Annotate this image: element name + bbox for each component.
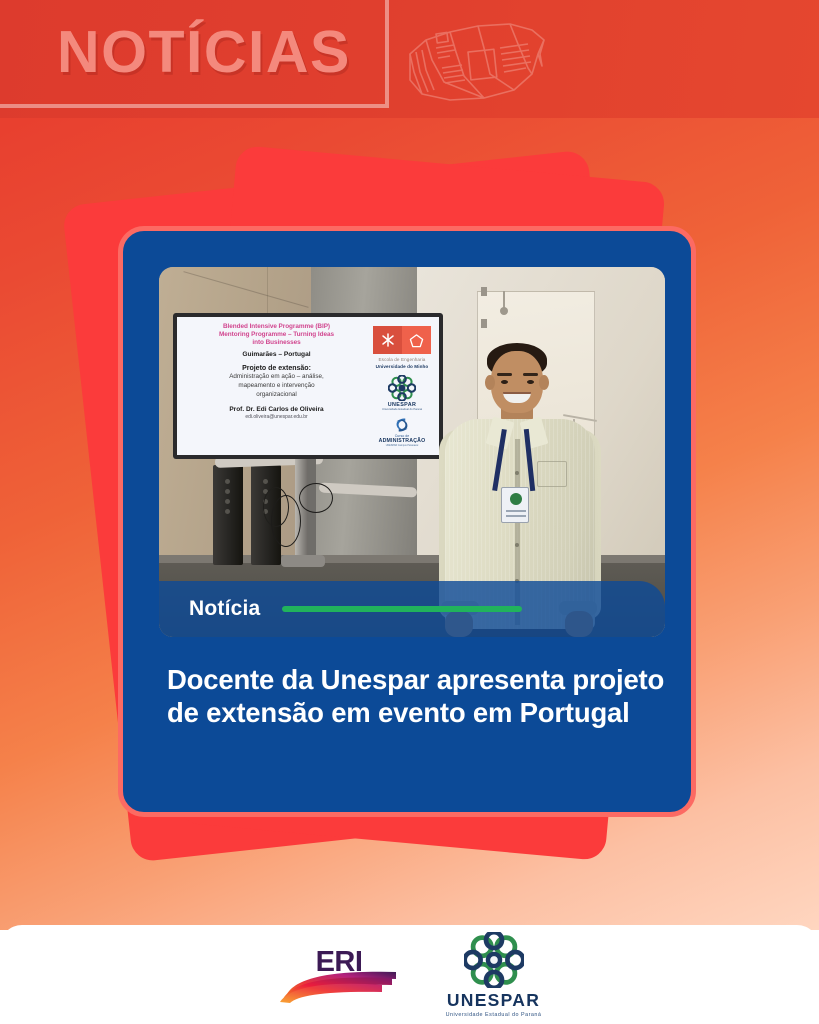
newspaper-icon: [392, 14, 557, 109]
news-card[interactable]: Blended Intensive Programme (BIP) Mentor…: [118, 226, 696, 817]
slide-administracao-logo: Curso de ADMINISTRAÇÃO UNESPAR Campus Pa…: [379, 416, 426, 447]
eri-logo: ERI: [278, 946, 400, 1004]
minho-university-caption: Universidade do Minho: [376, 364, 429, 369]
badge-text-line: [506, 515, 526, 517]
category-strip: Notícia: [159, 581, 665, 637]
person-shirt-button: [515, 471, 519, 475]
cable-bundle: [255, 481, 335, 561]
slide-location: Guimarães – Portugal: [183, 351, 370, 358]
badge-logo-icon: [510, 493, 522, 505]
header-band: NOTÍCIAS: [0, 0, 819, 118]
unespar-flower-icon: [464, 932, 524, 988]
header-divider-vertical: [385, 0, 389, 104]
slide-title-line-1: Blended Intensive Programme (BIP): [183, 323, 370, 331]
whiteboard-hook-knob: [500, 307, 508, 315]
slide-author-email: edi.oliveira@unespar.edu.br: [183, 414, 370, 420]
slide-title-line-2: Mentoring Programme – Turning Ideas: [183, 331, 370, 339]
speaker-left: [213, 465, 243, 565]
person-shirt-pocket: [537, 461, 567, 487]
administracao-icon: [392, 416, 412, 434]
unespar-flower-icon: [388, 375, 416, 401]
category-accent-line: [282, 606, 522, 612]
person-head: [491, 351, 543, 413]
id-badge: [501, 487, 529, 523]
slide-project-line-1: Administração em ação – análise,: [183, 373, 370, 381]
slide-title-line-3: into Businesses: [183, 339, 370, 347]
slide-author: Prof. Dr. Edi Carlos de Oliveira: [183, 406, 370, 413]
slide-unespar-sub: Universidade Estadual do Paraná: [382, 408, 422, 411]
person-eye-left: [501, 380, 508, 384]
slide-text-column: Blended Intensive Programme (BIP) Mentor…: [183, 323, 370, 451]
badge-text-line: [506, 510, 526, 512]
slide-project-line-3: organizacional: [183, 391, 370, 399]
administracao-sub: UNESPAR Campus Paranavaí: [386, 444, 419, 447]
header-divider-horizontal: [0, 104, 389, 108]
news-photo: Blended Intensive Programme (BIP) Mentor…: [159, 267, 665, 637]
presentation-slide: Blended Intensive Programme (BIP) Mentor…: [177, 317, 439, 455]
slide-unespar-logo: UNESPAR Universidade Estadual do Paraná: [382, 375, 422, 411]
unespar-wordmark: UNESPAR: [447, 990, 540, 1011]
person-ear-right: [539, 375, 549, 390]
news-headline: Docente da Unespar apresenta projeto de …: [167, 663, 671, 729]
person-eyebrow-right: [523, 373, 538, 376]
minho-logo-icon: [373, 326, 431, 354]
slide-project-line-2: mapeamento e intervenção: [183, 382, 370, 390]
whiteboard-clip: [481, 319, 487, 328]
slide-project-label: Projeto de extensão:: [183, 365, 370, 372]
person-eyebrow-left: [497, 373, 512, 376]
person-eye-right: [527, 380, 534, 384]
minho-school-caption: Escola de Engenharia: [379, 357, 426, 362]
unespar-logo: UNESPAR Universidade Estadual do Paraná: [446, 932, 542, 1018]
footer-bar: ERI: [0, 925, 819, 1024]
category-label: Notícia: [189, 597, 260, 621]
unespar-tagline: Universidade Estadual do Paraná: [446, 1012, 542, 1018]
presentation-screen: Blended Intensive Programme (BIP) Mentor…: [173, 313, 443, 459]
news-poster: NOTÍCIAS: [0, 0, 819, 1024]
page-title: NOTÍCIAS: [57, 23, 351, 82]
slide-logo-column: Escola de Engenharia Universidade do Min…: [370, 323, 434, 451]
person-shirt-button: [515, 543, 519, 547]
whiteboard-clip: [481, 287, 487, 296]
person-ear-left: [485, 375, 495, 390]
eri-swoosh-icon: [278, 970, 400, 1004]
slide-surface: Blended Intensive Programme (BIP) Mentor…: [177, 317, 439, 455]
